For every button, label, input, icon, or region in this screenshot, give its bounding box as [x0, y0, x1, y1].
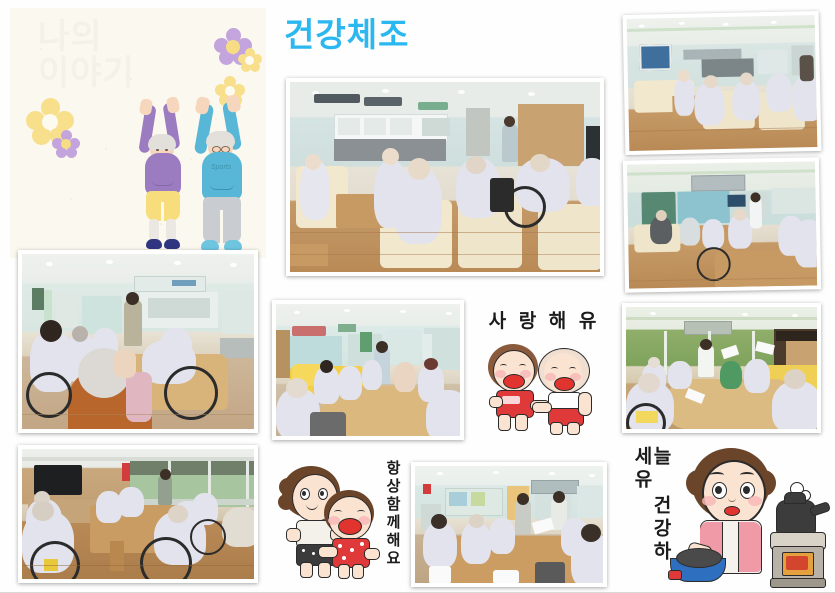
kettle-stove: [770, 486, 828, 586]
sticker-hangsang-hamkke-haeyo: 항상함께해요: [276, 452, 402, 584]
photo-green-window-room[interactable]: [622, 303, 821, 433]
flower-purple-small: [52, 130, 80, 158]
girl-red-dotted-dress: [320, 490, 382, 580]
figure-right-elderly: Sports: [188, 100, 264, 258]
photo-lobby-long-table[interactable]: [411, 462, 607, 587]
sticker-saranghaeyu-text: 사 랑 해 유: [486, 306, 602, 333]
illustration-watermark: 나의이야기: [38, 20, 135, 91]
photo-lobby-yellow-sofa[interactable]: [272, 300, 464, 440]
sticker-hangsang-text: 항상함께해요: [385, 460, 400, 578]
sticker-neul-geonganghaseyu: 늘 건강하세유: [628, 442, 828, 590]
girl-light-hair-red-shorts: [536, 346, 598, 434]
sticker-saranghaeyu: 사 랑 해 유: [478, 302, 608, 434]
flower-yellow-small: [238, 48, 262, 72]
photo-lounge-head-stretch[interactable]: [286, 78, 604, 276]
elderly-exercise-illustration: 나의이야기: [10, 8, 266, 258]
photo-corridor-group[interactable]: [18, 250, 258, 433]
photo-lounge-wide-right-top[interactable]: [623, 11, 822, 155]
photo-dayroom-tv[interactable]: [18, 445, 258, 583]
collage-page: 건강체조 나의이야기: [0, 0, 835, 593]
figure-shirt-text: Sports: [211, 164, 231, 171]
sticker-neul-text: 늘 건강하세유: [632, 446, 670, 584]
page-title: 건강체조: [284, 18, 409, 51]
photo-lounge-wide-right-mid[interactable]: [623, 157, 821, 292]
